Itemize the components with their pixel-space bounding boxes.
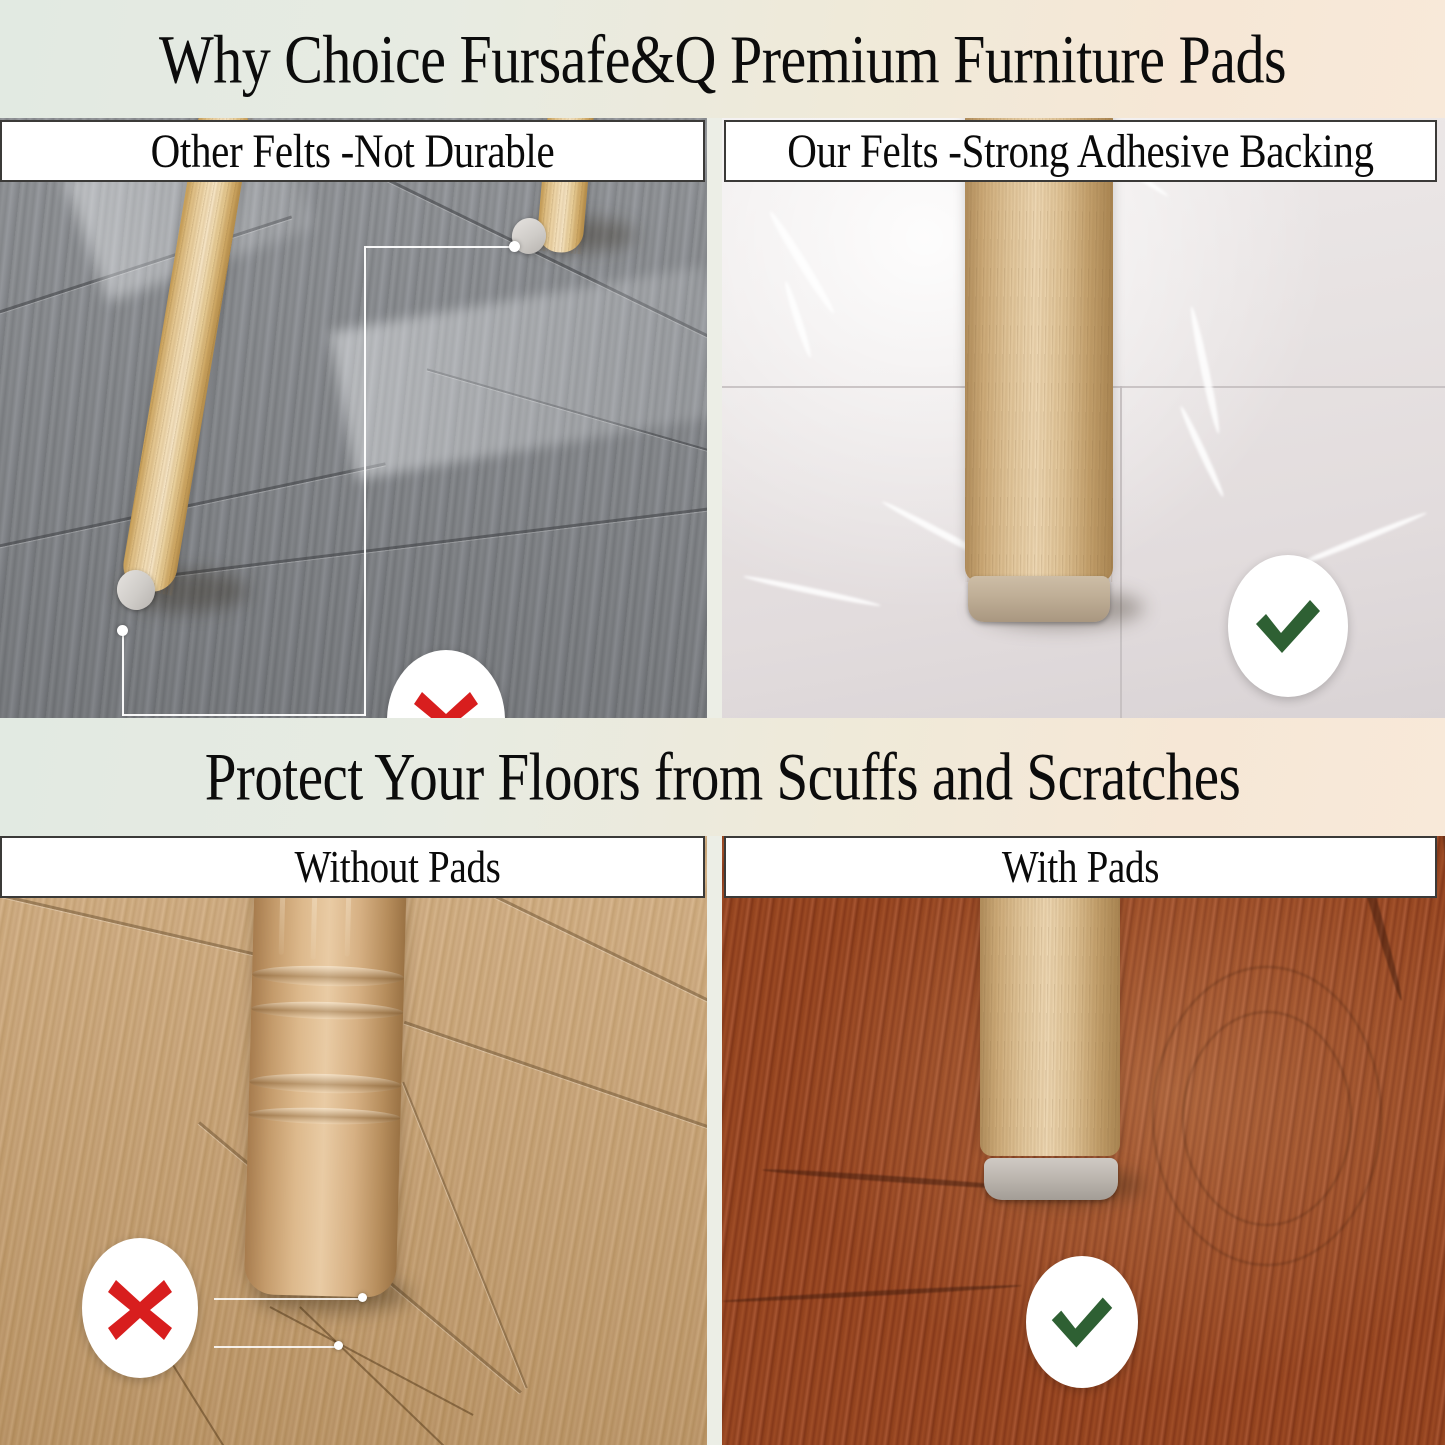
callout-segment	[122, 714, 366, 716]
check-icon	[1046, 1288, 1118, 1356]
leg-ring	[249, 1072, 401, 1095]
wood-grain-ring	[1182, 1011, 1352, 1226]
furniture-leg-turned	[244, 836, 409, 1298]
page-title: Why Choice Fursafe&Q Premium Furniture P…	[159, 19, 1286, 98]
callout-segment	[122, 630, 124, 716]
label-text: With Pads	[1002, 841, 1159, 893]
label-text: Other Felts -Not Durable	[151, 123, 555, 179]
callout-segment	[366, 246, 516, 248]
callout-dot	[117, 625, 128, 636]
callout-segment	[364, 246, 366, 716]
leg-ring	[252, 964, 404, 988]
label-text: Our Felts -Strong Adhesive Backing	[787, 123, 1374, 179]
check-badge	[1026, 1256, 1138, 1388]
infographic-page: Why Choice Fursafe&Q Premium Furniture P…	[0, 0, 1445, 1445]
callout-segment	[214, 1346, 340, 1348]
check-badge	[1228, 555, 1348, 697]
check-icon	[1250, 590, 1326, 662]
label-our-felts: Our Felts -Strong Adhesive Backing	[724, 120, 1437, 182]
label-with-pads: With Pads	[724, 836, 1437, 898]
leg-ring	[251, 1000, 403, 1021]
panel-bottom-right	[722, 836, 1445, 1445]
felt-pad	[984, 1158, 1118, 1200]
label-text: Without Pads	[294, 841, 500, 893]
label-other-felts: Other Felts -Not Durable	[0, 120, 705, 182]
wood-grain	[965, 118, 1113, 582]
cross-badge	[82, 1238, 198, 1378]
callout-dot	[358, 1293, 367, 1302]
furniture-leg-beech	[965, 118, 1113, 582]
mid-banner: Protect Your Floors from Scuffs and Scra…	[0, 718, 1445, 836]
cross-icon	[410, 684, 482, 718]
callout-dot	[509, 241, 520, 252]
callout-dot	[334, 1341, 343, 1350]
label-without-pads: Without Pads	[0, 836, 705, 898]
header-banner: Why Choice Fursafe&Q Premium Furniture P…	[0, 0, 1445, 118]
callout-segment	[214, 1298, 364, 1300]
cross-icon	[104, 1272, 176, 1344]
felt-pad	[968, 576, 1110, 622]
tile-grout-line	[1120, 386, 1122, 718]
panel-bottom-left	[0, 836, 707, 1445]
panel-top-left	[0, 118, 707, 718]
leg-ring	[248, 1106, 400, 1126]
panel-top-right	[722, 118, 1445, 718]
mid-banner-title: Protect Your Floors from Scuffs and Scra…	[205, 739, 1241, 816]
